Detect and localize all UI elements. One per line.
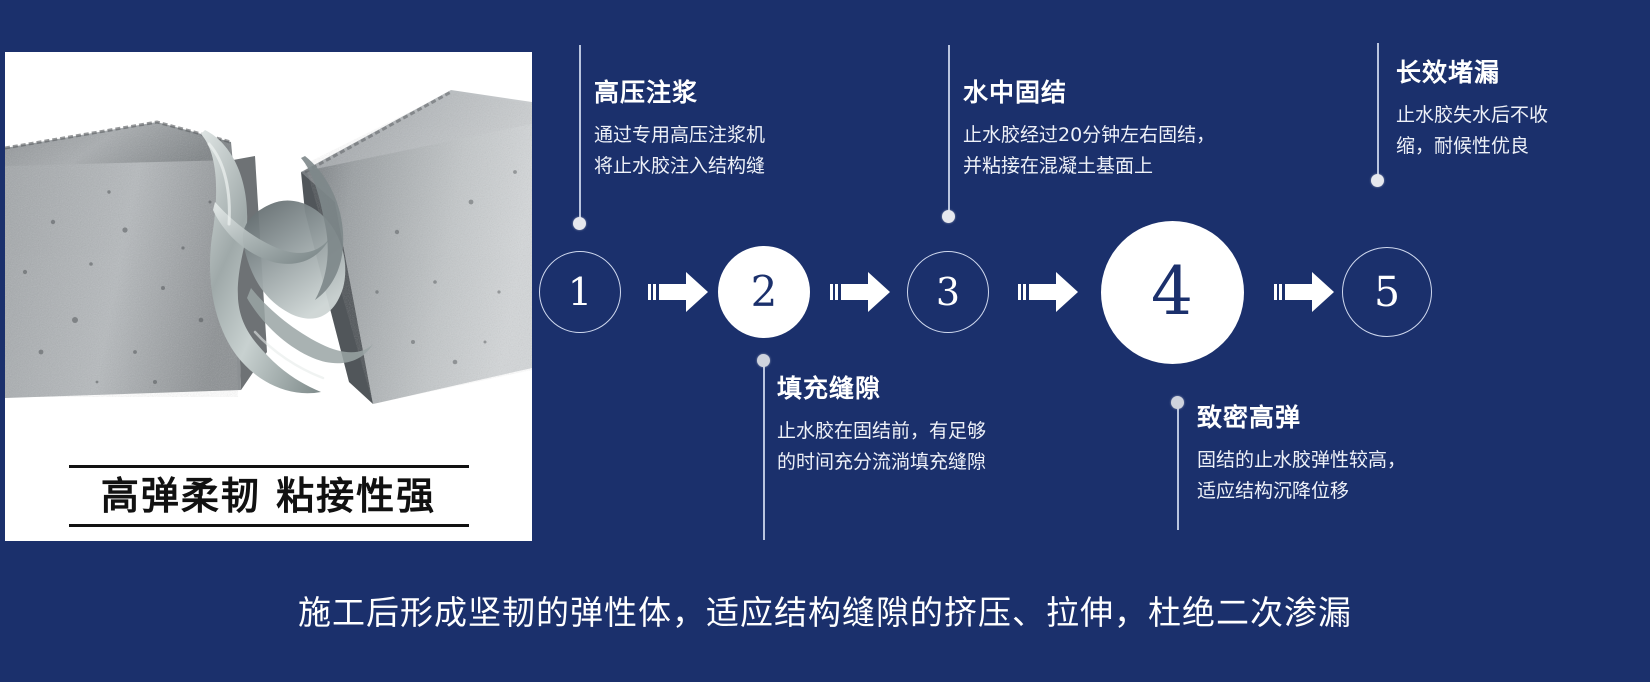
callout-title: 填充缝隙: [777, 374, 986, 404]
flow-arrow-4: [1274, 272, 1334, 312]
step-node-3[interactable]: 3: [907, 251, 989, 333]
step-number-label: 5: [1374, 272, 1400, 313]
step-number-label: 4: [1151, 259, 1193, 325]
callout-body: 通过专用高压注浆机 将止水胶注入结构缝: [594, 120, 765, 182]
arrow-tail-line: [648, 284, 651, 300]
step-number-label: 2: [751, 271, 778, 313]
callout-title: 致密高弹: [1197, 403, 1406, 433]
callout-body: 止水胶失水后不收 缩，耐候性优良: [1396, 100, 1548, 162]
infographic-canvas: 高弹柔韧 粘接性强 12345 高压注浆通过专用高压注浆机 将止水胶注入结构缝填…: [0, 0, 1650, 682]
arrow-head: [1056, 272, 1078, 312]
callout-title: 高压注浆: [594, 78, 765, 108]
arrow-head: [686, 272, 708, 312]
callout-body: 固结的止水胶弹性较高， 适应结构沉降位移: [1197, 445, 1406, 507]
arrow-head: [1312, 272, 1334, 312]
callout-title: 水中固结: [963, 78, 1215, 108]
callout-leader-line-3: [948, 45, 950, 215]
callout-leader-line-2: [763, 360, 765, 540]
callout-4: 致密高弹固结的止水胶弹性较高， 适应结构沉降位移: [1197, 403, 1406, 507]
callout-anchor-dot-3: [942, 210, 955, 223]
arrow-tail-line: [1279, 284, 1282, 300]
arrow-tail-line: [1274, 284, 1277, 300]
callout-leader-line-5: [1377, 43, 1379, 179]
arrow-tail-line: [1023, 284, 1026, 300]
step-node-4[interactable]: 4: [1101, 221, 1244, 364]
callout-title: 长效堵漏: [1396, 58, 1548, 88]
callout-anchor-dot-2: [757, 354, 770, 367]
arrow-tail-line: [653, 284, 656, 300]
arrow-tail-line: [835, 284, 838, 300]
flow-arrow-1: [648, 272, 708, 312]
step-node-1[interactable]: 1: [539, 251, 621, 333]
step-number-label: 1: [568, 273, 592, 311]
callout-3: 水中固结止水胶经过20分钟左右固结， 并粘接在混凝土基面上: [963, 78, 1215, 182]
flow-arrow-3: [1018, 272, 1078, 312]
callout-1: 高压注浆通过专用高压注浆机 将止水胶注入结构缝: [594, 78, 765, 182]
step-node-5[interactable]: 5: [1342, 247, 1432, 337]
callout-5: 长效堵漏止水胶失水后不收 缩，耐候性优良: [1396, 58, 1548, 162]
callout-anchor-dot-1: [573, 217, 586, 230]
arrow-tail-line: [830, 284, 833, 300]
arrow-tail-line: [1018, 284, 1021, 300]
callout-leader-line-4: [1177, 402, 1179, 530]
callout-anchor-dot-4: [1171, 396, 1184, 409]
step-number-label: 3: [936, 273, 960, 311]
arrow-shaft: [659, 284, 686, 300]
callout-leader-line-1: [579, 45, 581, 222]
flow-arrow-2: [830, 272, 890, 312]
callout-anchor-dot-5: [1371, 174, 1384, 187]
step-node-2[interactable]: 2: [718, 246, 810, 338]
callout-2: 填充缝隙止水胶在固结前，有足够 的时间充分流淌填充缝隙: [777, 374, 986, 478]
arrow-shaft: [1029, 284, 1056, 300]
callout-body: 止水胶经过20分钟左右固结， 并粘接在混凝土基面上: [963, 120, 1215, 182]
arrow-shaft: [1285, 284, 1312, 300]
callout-body: 止水胶在固结前，有足够 的时间充分流淌填充缝隙: [777, 416, 986, 478]
bottom-tagline: 施工后形成坚韧的弹性体，适应结构缝隙的挤压、拉伸，杜绝二次渗漏: [0, 586, 1650, 634]
arrow-head: [868, 272, 890, 312]
arrow-shaft: [841, 284, 868, 300]
